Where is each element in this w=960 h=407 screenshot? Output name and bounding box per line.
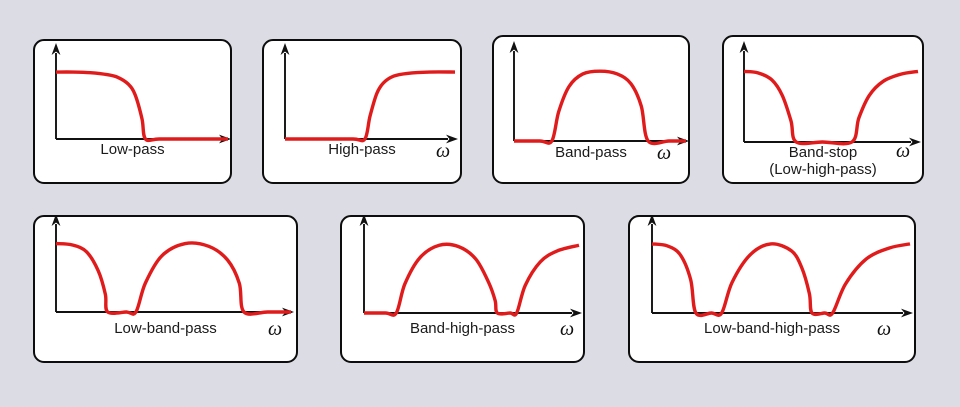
filter-response-figure: Low-passωHigh-passωBand-passωBand-stop (… (0, 0, 960, 407)
omega-axis-symbol: ω (877, 319, 891, 339)
filter-panel-low-pass: Low-passω (33, 39, 232, 184)
response-curve (744, 71, 918, 143)
response-curve (56, 72, 228, 140)
panel-label-high-pass: High-pass (264, 141, 460, 158)
response-curve (285, 72, 455, 141)
filter-panel-low-band-high-pass: Low-band-high-passω (628, 215, 916, 363)
frequency-response-plot (35, 41, 232, 184)
response-curve (56, 243, 291, 314)
response-curve (652, 244, 910, 316)
filter-panel-band-stop: Band-stop (Low-high-pass)ω (722, 35, 924, 184)
panel-label-band-stop: Band-stop (Low-high-pass) (724, 144, 922, 178)
omega-axis-symbol: ω (268, 319, 282, 339)
omega-axis-symbol: ω (560, 319, 574, 339)
omega-axis-symbol: ω (436, 141, 450, 161)
panel-label-low-band-pass: Low-band-pass (35, 320, 296, 337)
omega-axis-symbol: ω (896, 141, 910, 161)
filter-panel-band-high-pass: Band-high-passω (340, 215, 585, 363)
filter-panel-band-pass: Band-passω (492, 35, 690, 184)
panel-label-low-pass: Low-pass (35, 141, 230, 158)
response-curve (514, 71, 686, 143)
panel-label-low-band-high-pass: Low-band-high-pass (630, 320, 914, 337)
omega-axis-symbol: ω (657, 143, 671, 163)
frequency-response-plot (630, 217, 916, 363)
filter-panel-high-pass: High-passω (262, 39, 462, 184)
panel-label-band-high-pass: Band-high-pass (342, 320, 583, 337)
frequency-response-plot (264, 41, 462, 184)
frequency-response-plot (35, 217, 298, 363)
frequency-response-plot (342, 217, 585, 363)
response-curve (364, 244, 579, 315)
filter-panel-low-band-pass: Low-band-passω (33, 215, 298, 363)
